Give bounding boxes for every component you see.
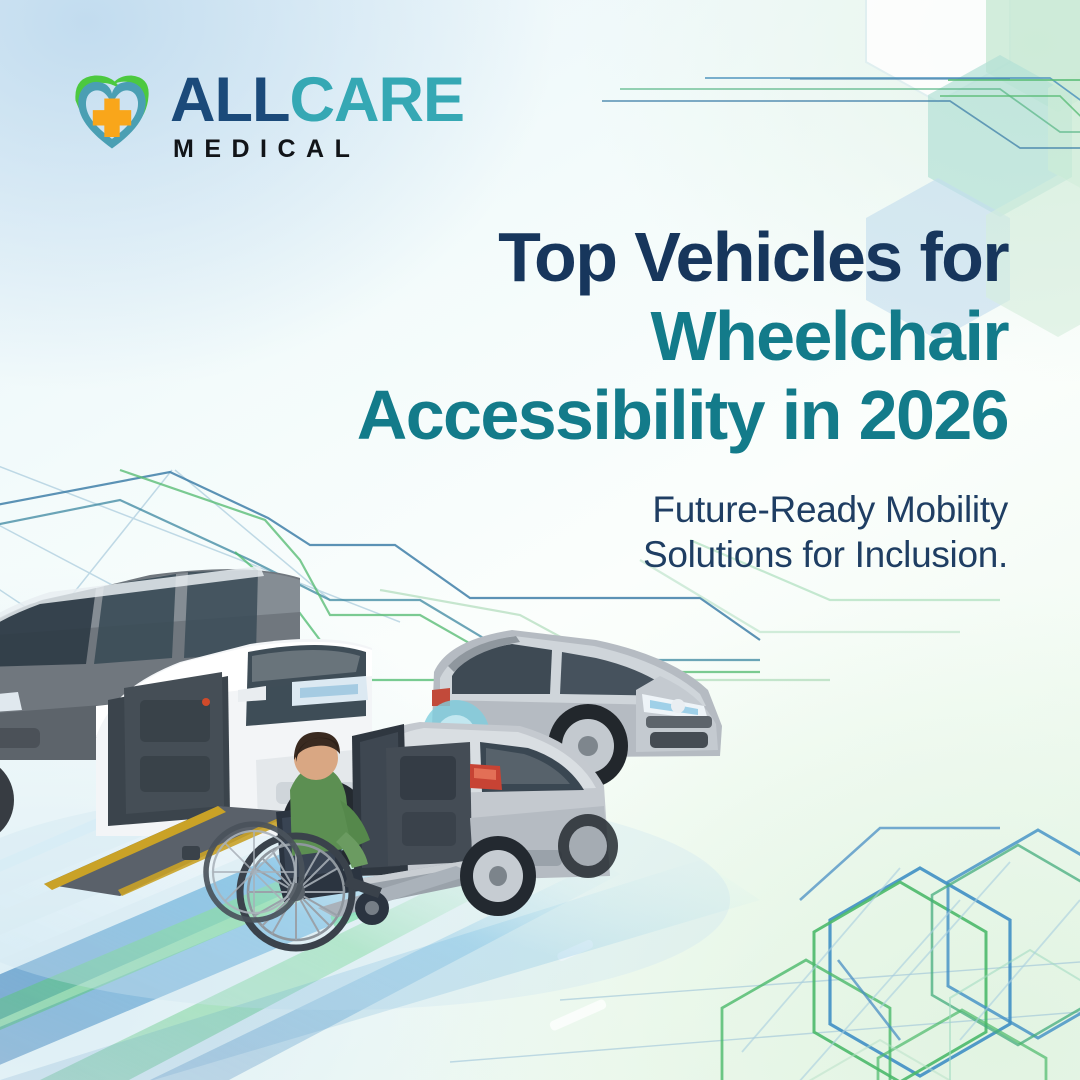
headline-line-3: Accessibility in 2026 — [308, 380, 1008, 450]
brand-logo[interactable]: ALLCARE MEDICAL — [64, 58, 464, 164]
hexagon-outlines-bottom-right — [722, 828, 1080, 1080]
poster-canvas: ALLCARE MEDICAL Top Vehicles for Wheelch… — [0, 0, 1080, 1080]
logo-word-all: ALL — [170, 65, 289, 135]
subtitle-line-2: Solutions for Inclusion. — [388, 532, 1008, 577]
subtitle-block: Future-Ready Mobility Solutions for Incl… — [388, 487, 1008, 577]
logo-word-care: CARE — [289, 65, 464, 135]
headline-line-1: Top Vehicles for — [308, 222, 1008, 292]
headline-block: Top Vehicles for Wheelchair Accessibilit… — [308, 222, 1008, 459]
wheelchair-caster — [355, 891, 389, 925]
headline-line-2: Wheelchair — [308, 301, 1008, 371]
wheel — [460, 836, 536, 916]
heart-with-medical-cross-icon — [64, 64, 160, 160]
logo-tagline: MEDICAL — [173, 135, 464, 164]
wheel — [558, 814, 618, 878]
logo-wordmark: ALLCARE — [170, 72, 464, 130]
wheelchair-wheel — [206, 824, 302, 920]
subtitle-line-1: Future-Ready Mobility — [388, 487, 1008, 532]
